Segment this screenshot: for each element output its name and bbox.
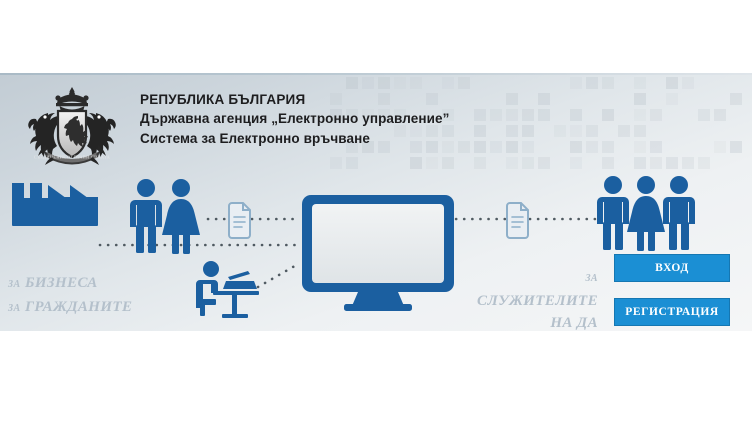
- site-banner: СЪЕДИНЕНИЕТО ПРАВИ СИЛАТА РЕПУБЛИКА БЪЛГ…: [0, 73, 752, 331]
- person-at-desk-icon: [196, 261, 259, 318]
- audience-label-right: ЗА СЛУЖИТЕЛИТЕ НА ДА: [418, 266, 598, 331]
- label-employees-row: СЛУЖИТЕЛИТЕ: [418, 290, 598, 312]
- label-agency-abbrev: НА ДА: [550, 315, 598, 331]
- title-line-system: Система за Електронно връчване: [140, 129, 570, 149]
- people-group-icon: [597, 176, 695, 251]
- label-za-3: ЗА: [585, 273, 598, 284]
- title-line-country: РЕПУБЛИКА БЪЛГАРИЯ: [140, 90, 570, 109]
- man-icon: [130, 179, 162, 253]
- factory-icon: [12, 183, 98, 226]
- label-citizens-row: ЗА ГРАЖДАНИТЕ: [8, 296, 132, 320]
- agency-title-block: РЕПУБЛИКА БЪЛГАРИЯ Държавна агенция „Еле…: [140, 90, 570, 149]
- login-button[interactable]: ВХОД: [614, 254, 730, 282]
- svg-text:СЪЕДИНЕНИЕТО ПРАВИ СИЛАТА: СЪЕДИНЕНИЕТО ПРАВИ СИЛАТА: [34, 155, 110, 160]
- bulgarian-coat-of-arms-icon: СЪЕДИНЕНИЕТО ПРАВИ СИЛАТА: [22, 83, 122, 179]
- banner-top-divider: [0, 73, 752, 75]
- label-za-1: ЗА: [8, 279, 21, 290]
- label-employees: СЛУЖИТЕЛИТЕ: [477, 293, 598, 309]
- label-citizens: ГРАЖДАНИТЕ: [25, 299, 132, 315]
- audience-label-left: ЗА БИЗНЕСА ЗА ГРАЖДАНИТЕ: [8, 272, 132, 320]
- label-agency-row: НА ДА: [418, 312, 598, 331]
- register-button[interactable]: РЕГИСТРАЦИЯ: [614, 298, 730, 326]
- document-icon: [507, 203, 528, 238]
- woman-icon: [162, 179, 200, 254]
- title-line-agency: Държавна агенция „Електронно управление”: [140, 109, 570, 129]
- label-za-row: ЗА: [418, 266, 598, 290]
- label-za-2: ЗА: [8, 303, 21, 314]
- label-business-row: ЗА БИЗНЕСА: [8, 272, 132, 296]
- screenshot-root: СЪЕДИНЕНИЕТО ПРАВИ СИЛАТА РЕПУБЛИКА БЪЛГ…: [0, 0, 752, 423]
- document-icon: [229, 203, 250, 238]
- label-business: БИЗНЕСА: [25, 275, 98, 291]
